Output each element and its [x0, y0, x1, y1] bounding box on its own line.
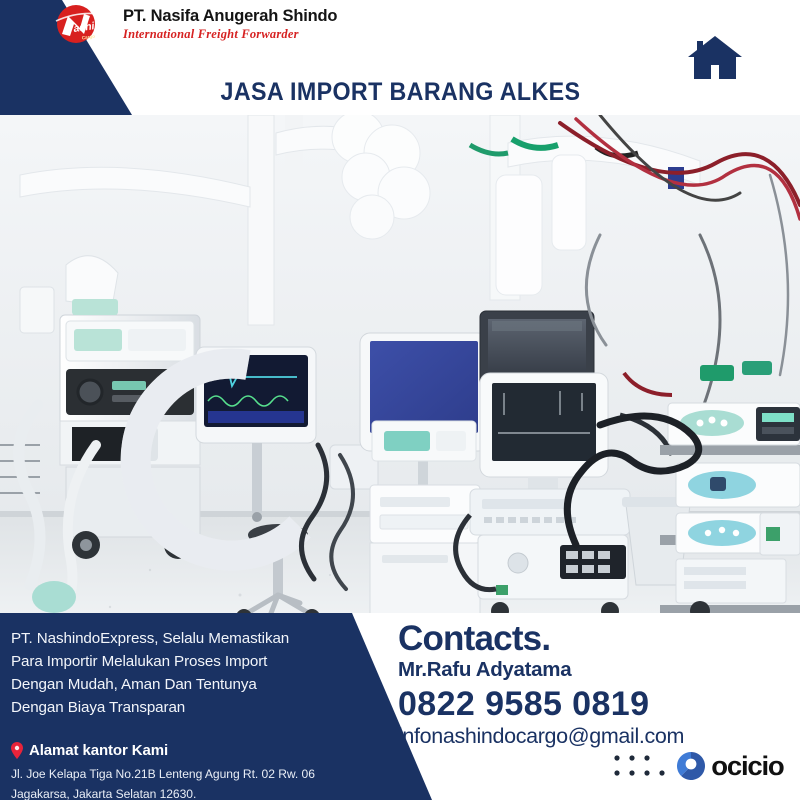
home-icon [686, 32, 744, 82]
company-brand: ashindo Cargo PT. Nasifa Anugerah Shindo… [52, 4, 337, 44]
contact-email-address[interactable]: infonashindocargo@gmail.com [398, 724, 798, 749]
company-tagline: International Freight Forwarder [123, 28, 337, 41]
address-block: Jl. Joe Kelapa Tiga No.21B Lenteng Agung… [11, 765, 351, 800]
promo-poster: ashindo Cargo PT. Nasifa Anugerah Shindo… [0, 0, 800, 800]
contacts-heading: Contacts. [398, 621, 798, 656]
address-line-1: Jl. Joe Kelapa Tiga No.21B Lenteng Agung… [11, 765, 351, 785]
hero-photo-operating-room [0, 115, 800, 613]
company-tagline-block: PT. NashindoExpress, Selalu Memastikan P… [11, 627, 341, 719]
svg-text:Cargo: Cargo [81, 34, 95, 41]
poster-title-banner: JASA IMPORT BARANG ALKES [0, 78, 800, 107]
ocicio-circle-icon [677, 752, 705, 780]
brand-text-block: PT. Nasifa Anugerah Shindo International… [123, 8, 337, 41]
dot-grid-icon [612, 753, 670, 779]
page-title: JASA IMPORT BARANG ALKES [220, 78, 580, 107]
address-heading: Alamat kantor Kami [29, 742, 168, 759]
contact-phone-number[interactable]: 0822 9585 0819 [398, 685, 798, 723]
tagline-line-3: Dengan Mudah, Aman Dan Tentunya [11, 673, 341, 696]
location-pin-icon [11, 742, 23, 759]
nashindo-cargo-logo: ashindo Cargo [52, 4, 114, 44]
tagline-line-4: Dengan Biaya Transparan [11, 696, 341, 719]
contacts-block: Contacts. Mr.Rafu Adyatama 0822 9585 081… [398, 621, 798, 748]
agency-name: ocicio [711, 753, 783, 780]
address-heading-row: Alamat kantor Kami [11, 742, 168, 759]
agency-credit-logo: ocicio [612, 752, 783, 780]
company-name: PT. Nasifa Anugerah Shindo [123, 8, 337, 25]
tagline-line-2: Para Importir Melalukan Proses Import [11, 650, 341, 673]
tagline-line-1: PT. NashindoExpress, Selalu Memastikan [11, 627, 341, 650]
address-line-2: Jagakarsa, Jakarta Selatan 12630. [11, 785, 351, 800]
contact-person-name: Mr.Rafu Adyatama [398, 659, 798, 682]
header-bar: ashindo Cargo PT. Nasifa Anugerah Shindo… [0, 0, 800, 115]
